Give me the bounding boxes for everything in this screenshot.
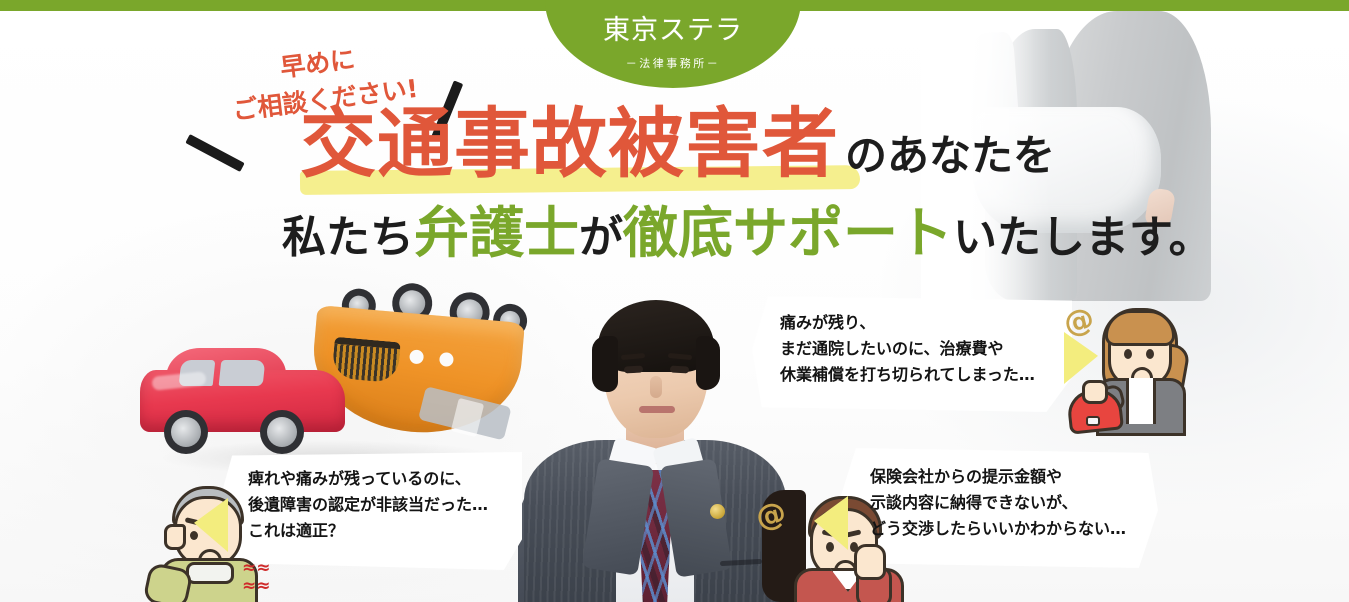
woman-eye: [1124, 349, 1132, 359]
bubble-line: 保険会社からの提示金額や: [870, 464, 1126, 490]
bubble-line: 後遺障害の認定が非該当だった…: [248, 492, 488, 518]
wallet-clasp: [1086, 416, 1100, 426]
elderly-neck-brace: [186, 562, 234, 584]
orange-car-headlight: [409, 349, 424, 364]
bubble-line: どう交渉したらいいかわからない…: [870, 516, 1126, 542]
speech-bubble-medical-costs: 痛みが残り、 まだ通院したいのに、治療費や 休業補償を打ち切られてしまった…: [752, 296, 1072, 412]
lawyer-portrait-photo: [520, 292, 790, 602]
headline-part-3: が: [579, 216, 623, 260]
bubble-line: まだ通院したいのに、治療費や: [780, 336, 1035, 362]
wheel: [164, 410, 208, 454]
woman-blouse: [1126, 378, 1156, 424]
pain-zigzag-icon: ≈≈: [242, 580, 271, 594]
lawyer-hair-side: [592, 336, 618, 392]
hero-banner: 東京ステラ －法律事務所－ 早めに ご相談ください! 交通事故被害者 のあなたを…: [0, 0, 1349, 602]
red-car-window: [219, 360, 266, 386]
orange-car-headlight: [439, 352, 454, 367]
elderly-ear: [164, 524, 186, 550]
lawyer-eye: [624, 366, 643, 374]
woman-bangs: [1105, 310, 1175, 346]
bubble-text: 保険会社からの提示金額や 示談内容に納得できないが、 どう交渉したらいいかわから…: [870, 464, 1126, 542]
red-toy-car: [140, 348, 345, 444]
bubble-line: これは適正？: [248, 518, 488, 544]
logo-subtitle: －法律事務所－: [626, 55, 721, 71]
headline-emphasis: 交通事故被害者: [300, 106, 839, 182]
lawyer-mouth: [639, 406, 675, 413]
headline-part-4: 徹底サポート: [623, 206, 953, 261]
bubble-text: 痛みが残り、 まだ通院したいのに、治療費や 休業補償を打ち切られてしまった…: [780, 310, 1035, 388]
hero-headline: 交通事故被害者 のあなたを 私たち 弁護士 が 徹底サポート いたします。: [0, 106, 1349, 282]
bubble-text: 痺れや痛みが残っているのに、 後遺障害の認定が非該当だった… これは適正？: [248, 466, 488, 544]
headline-row-1: 交通事故被害者 のあなたを: [300, 106, 1055, 182]
logo-name: 東京ステラ: [603, 17, 743, 44]
headline-row-2: 私たち 弁護士 が 徹底サポート いたします。: [282, 206, 1213, 261]
bubble-line: 痺れや痛みが残っているのに、: [248, 466, 488, 492]
bubble-line: 示談内容に納得できないが、: [870, 490, 1126, 516]
man-eye: [826, 542, 834, 552]
woman-mouth: [1131, 367, 1153, 378]
woman-eye: [1146, 349, 1154, 359]
lawyer-hair-side: [696, 336, 720, 390]
bubble-line: 休業補償を打ち切られてしまった…: [780, 362, 1035, 388]
lawyer-eye: [670, 366, 689, 374]
headline-part-2: 弁護士: [414, 206, 579, 261]
lawyer-badge-icon: [710, 504, 725, 519]
bubble-line: 痛みが残り、: [780, 310, 1035, 336]
wheel: [260, 410, 304, 454]
worried-woman-illustration: @: [1078, 306, 1198, 430]
elderly-eye: [190, 531, 198, 540]
man-hand-on-cheek: [854, 544, 886, 580]
pain-zigzag-icon: ≈≈: [242, 562, 271, 576]
woman-hand: [1082, 380, 1108, 404]
headline-tail: のあなたを: [845, 135, 1055, 177]
headline-part-1: 私たち: [282, 216, 414, 260]
headline-part-5: いたします。: [953, 216, 1213, 260]
lawyer-nose: [650, 376, 662, 398]
